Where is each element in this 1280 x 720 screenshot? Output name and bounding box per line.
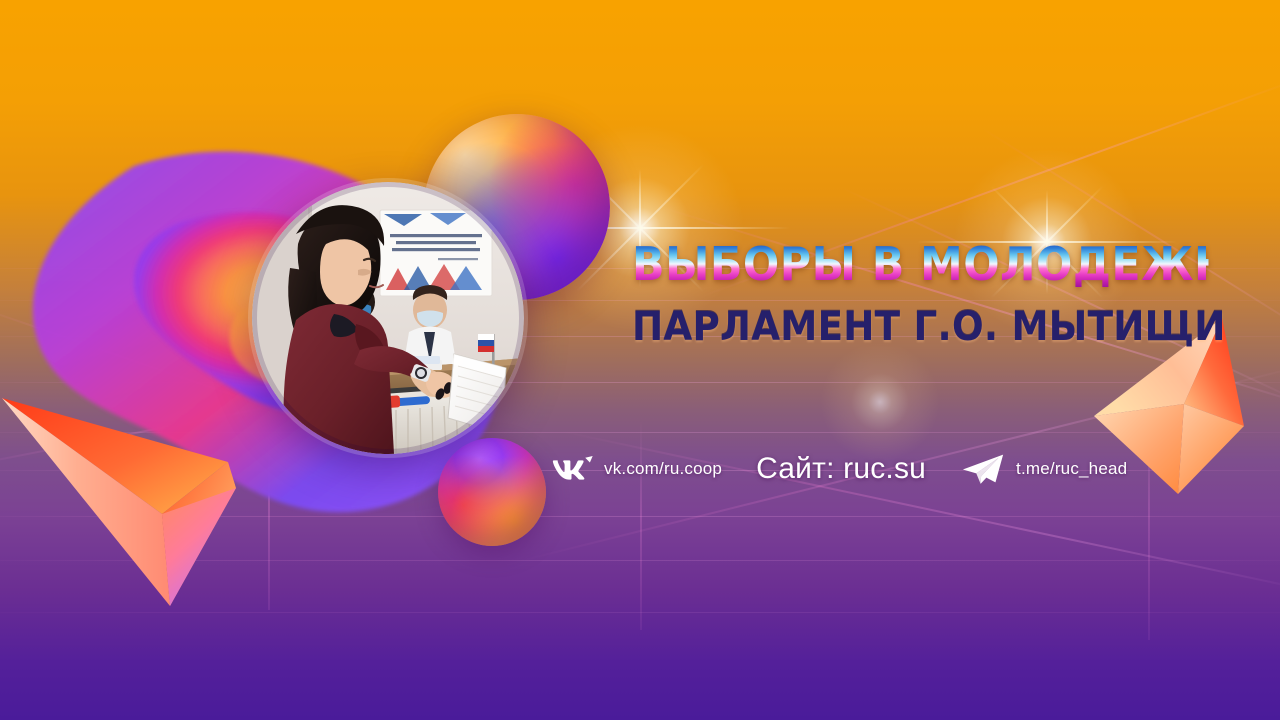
vk-link-label: vk.com/ru.coop <box>604 459 722 479</box>
headline-line-1: ВЫБОРЫ В МОЛОДЕЖНЫЙ <box>632 241 1209 287</box>
dart-shape-left <box>0 378 244 608</box>
poster-canvas: ВЫБОРЫ В МОЛОДЕЖНЫЙ ПАРЛАМЕНТ Г.О. МЫТИЩ… <box>0 0 1280 720</box>
telegram-link[interactable]: t.me/ruc_head <box>960 452 1127 486</box>
telegram-link-label: t.me/ruc_head <box>1016 459 1127 479</box>
gradient-sphere-small <box>438 438 546 546</box>
headline-block: ВЫБОРЫ В МОЛОДЕЖНЫЙ ПАРЛАМЕНТ Г.О. МЫТИЩ… <box>632 241 1252 347</box>
contact-links: vk.com/ru.coop Сайт: ruc.su t.me/ruc_hea… <box>552 440 1127 498</box>
polling-station-photo <box>252 182 524 454</box>
headline-line-2: ПАРЛАМЕНТ Г.О. МЫТИЩИ <box>632 307 1209 347</box>
site-link-label[interactable]: Сайт: ruc.su <box>756 452 926 486</box>
telegram-icon <box>960 452 1006 486</box>
vk-link[interactable]: vk.com/ru.coop <box>552 454 722 484</box>
vk-icon <box>552 454 594 484</box>
